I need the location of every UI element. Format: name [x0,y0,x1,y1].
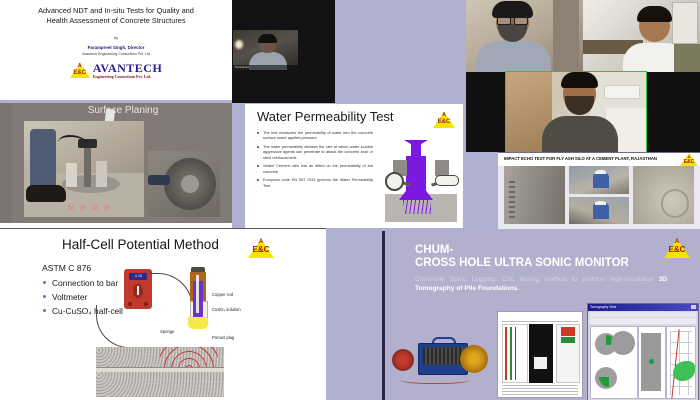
thumb-lamp [235,40,243,49]
voltmeter-dial [133,284,143,298]
title-heading: Advanced NDT and In-situ Tests for Quali… [8,6,224,26]
avantech-wordmark-block: AVANTECH Engineering Consortium Pvt. Ltd… [93,62,163,79]
voltmeter-reading: -0.28 [129,273,147,280]
video-tile-participant-2[interactable] [583,0,700,72]
tile3-torso [542,116,618,153]
software-menubar [590,312,696,317]
background-panel-mid [232,103,245,228]
tile2-hair [637,6,672,22]
thumb-participant-name: Participant [235,65,249,69]
slide-water-permeability: Water Permeability Test A E&C The test m… [245,104,463,228]
software-titlebar: Tomography View [588,304,698,311]
reservoir-icon [435,175,459,186]
avantech-badge-icon: A E&C [664,239,690,258]
avantech-badge-icon: A E&C [680,153,698,166]
impact-photo-col-3 [633,166,694,224]
avantech-logo: A E&C AVANTECH Engineering Consortium Pv… [0,62,232,79]
tile2-second-person [674,44,700,72]
water-permeability-title: Water Permeability Test [257,109,394,124]
pressure-gauge-icon [385,172,404,191]
slide-impact-echo: IMPACT ECHO TEST FOR FLY ASH SILO AT A C… [498,152,700,229]
thumb-name-bar: Participant [233,65,298,70]
image-csl-log-report [497,311,583,398]
avantech-badge-icon: A E&C [70,63,90,78]
pane-section-views [590,326,638,399]
tile3-air-conditioner [604,85,640,99]
impact-photo-col-1 [504,166,565,224]
thumb-glasses-icon [261,42,274,46]
impact-photo-col-2 [569,166,630,224]
avantech-badge-icon: A E&C [433,112,455,128]
tile1-door [553,0,579,72]
background-panel-bottom [326,228,387,400]
meeting-screenshare-canvas: Advanced NDT and In-situ Tests for Quali… [0,0,700,400]
water-permeability-bullets: The test measures the permeability of wa… [257,130,373,191]
slide-half-cell-potential: Half-Cell Potential Method A E&C ASTM C … [0,228,326,400]
slide-surface-planing: Surface Planing [0,103,232,228]
software-window-title: Tomography View [590,305,616,309]
tile1-glasses-icon [497,17,528,23]
list-item: The test measures the permeability of wa… [257,130,373,141]
pane-profile [638,326,666,399]
pane-3d-view [666,326,696,399]
close-icon [691,305,696,309]
photo-concrete-defect [633,166,694,224]
half-cell-title: Half-Cell Potential Method [62,237,219,252]
half-cell-probe [188,267,208,329]
list-item: Voltmeter [42,290,123,304]
tile1-turban [492,1,533,18]
title-organization: Avantech Engineering Consortium Pvt. Ltd [0,52,232,56]
chum-title-line2: CROSS HOLE ULTRA SONIC MONITOR [415,257,629,269]
water-permeability-apparatus-diagram [385,140,457,222]
photo-csl-equipment-case [392,327,490,389]
tile3-hair [561,72,598,88]
video-thumbnail-presenter[interactable]: Participant [233,30,298,70]
chum-subtitle: Crosshole Sonic Logging, CSL testing met… [415,275,667,293]
label-cuso4-solution: CuSO₄ solution [212,307,241,312]
title-by-label: by [0,35,232,40]
impact-echo-photo-row [504,166,694,224]
chum-subtitle-lead: Crosshole Sonic Logging, CSL testing met… [415,276,659,283]
video-tile-active-speaker[interactable] [505,71,647,154]
photo-worker-lower [569,197,630,225]
software-toolbar [590,318,696,324]
slide-chum-crosshole: CHUM- CROSS HOLE ULTRA SONIC MONITOR Cro… [387,231,700,400]
avantech-wordmark: AVANTECH [93,62,163,74]
label-copper-rod: Copper rod [212,292,233,297]
surface-planing-title: Surface Planing [14,105,232,116]
background-panel-top [335,0,466,103]
image-tomography-software: Tomography View [587,303,699,400]
label-sponge: Sponge [160,329,174,334]
title-presenter: Parampreet Singh, Director [0,45,232,50]
chum-title-line1: CHUM- [415,244,453,256]
slide-divider [382,231,385,400]
photo-worker-upper [569,166,630,194]
slide-title: Advanced NDT and In-situ Tests for Quali… [0,0,232,100]
software-panes [590,326,696,399]
half-cell-standard: ASTM C 876 [42,263,91,273]
video-tile-participant-1[interactable] [466,0,583,72]
tile1-torso [476,41,551,72]
list-item: Connection to bar [42,276,123,290]
tile2-window [672,2,698,44]
photo-silo-exterior [504,166,565,224]
voltmeter-device: -0.28 [124,269,152,309]
photo-grinding-disc [148,151,220,217]
concrete-slab-diagram [96,347,224,397]
photo-planing-rig [24,121,144,217]
label-porous-plug: Porous plug [212,335,234,340]
impact-echo-caption: IMPACT ECHO TEST FOR FLY ASH SILO AT A C… [498,153,700,166]
avantech-badge-icon: A E&C [248,239,274,258]
list-item: The water permeability dictates the rate… [257,144,373,160]
rebar-lead-wire [96,305,129,348]
list-item: European code EN ISO 7031 governs the Wa… [257,177,373,188]
probe-lead-wire [150,273,193,308]
list-item: Water/ Cement ratio has an effect on the… [257,163,373,174]
